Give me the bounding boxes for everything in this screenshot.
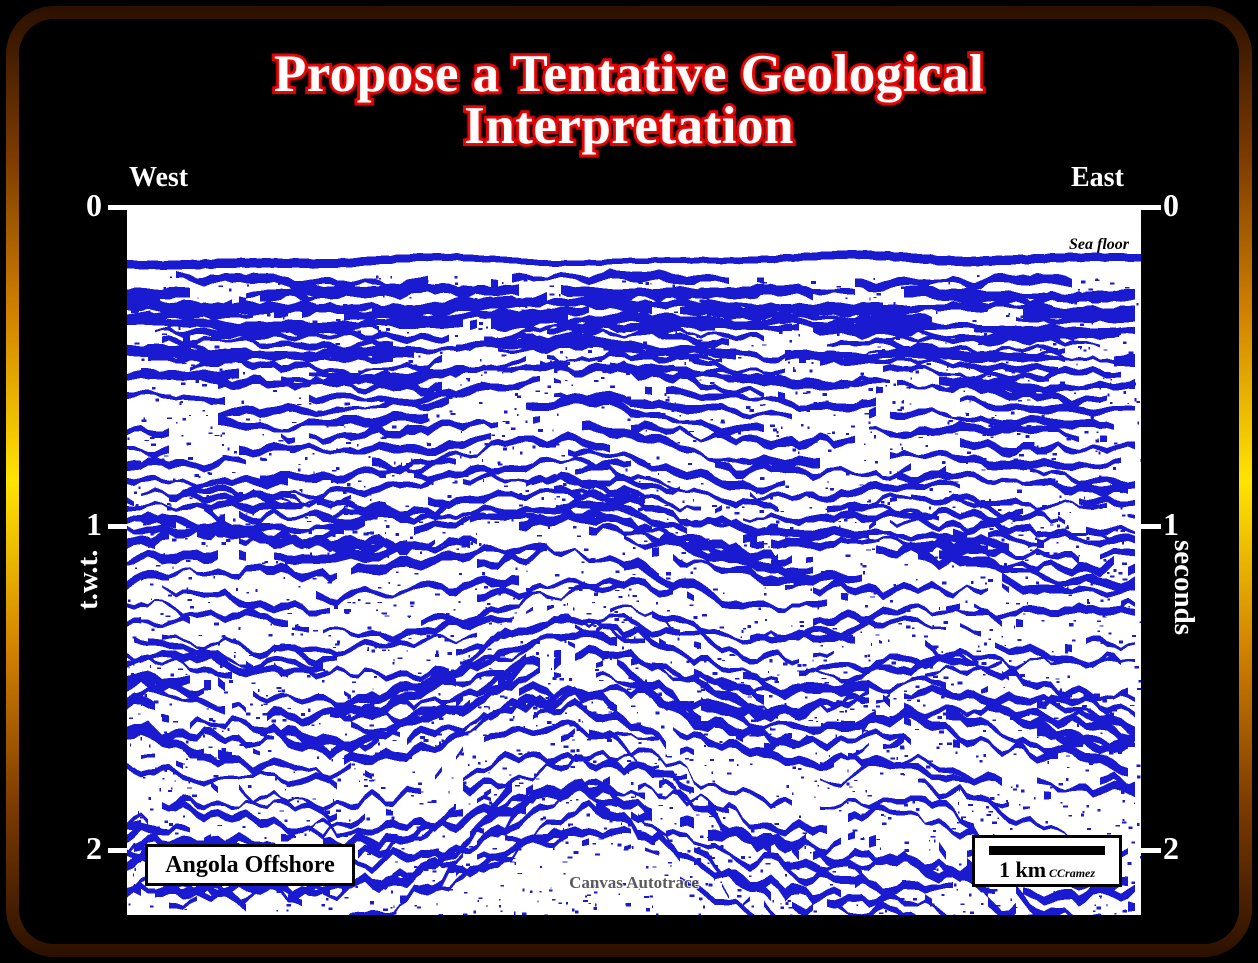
axis-tick-mark-right-2: [1139, 848, 1161, 853]
axis-tick-label-right-0: 0: [1163, 187, 1179, 224]
location-label: Angola Offshore: [165, 852, 335, 879]
axis-tick-mark-right-0: [1139, 205, 1161, 210]
sea-floor-label: Sea floor: [1069, 236, 1129, 254]
page-title: Propose a Tentative Geological Interpret…: [0, 48, 1258, 152]
location-label-box: Angola Offshore: [145, 844, 355, 886]
axis-tick-label-right-1: 1: [1163, 506, 1179, 543]
seismic-section-panel[interactable]: Sea floor Angola Offshore 1 km CCramez C…: [127, 205, 1141, 915]
scale-bar-line: [989, 846, 1105, 855]
author-credit: CCramez: [1049, 866, 1095, 881]
orientation-label-west: West: [129, 162, 188, 194]
axis-tick-label-left-0: 0: [86, 187, 102, 224]
scale-bar-length: 1 km: [999, 857, 1046, 883]
seismic-traces: [127, 205, 1141, 915]
axis-label-seconds: seconds: [1167, 540, 1200, 635]
axis-tick-label-right-2: 2: [1163, 830, 1179, 867]
axis-tick-label-left-2: 2: [86, 830, 102, 867]
orientation-label-east: East: [1071, 162, 1124, 194]
axis-tick-label-left-1: 1: [86, 506, 102, 543]
scale-bar-box: 1 km CCramez: [972, 835, 1122, 887]
page-title-line-2: Interpretation: [0, 100, 1258, 152]
axis-tick-mark-right-1: [1139, 524, 1161, 529]
page-title-line-1: Propose a Tentative Geological: [0, 48, 1258, 100]
axis-label-twt: t.w.t.: [72, 550, 105, 610]
